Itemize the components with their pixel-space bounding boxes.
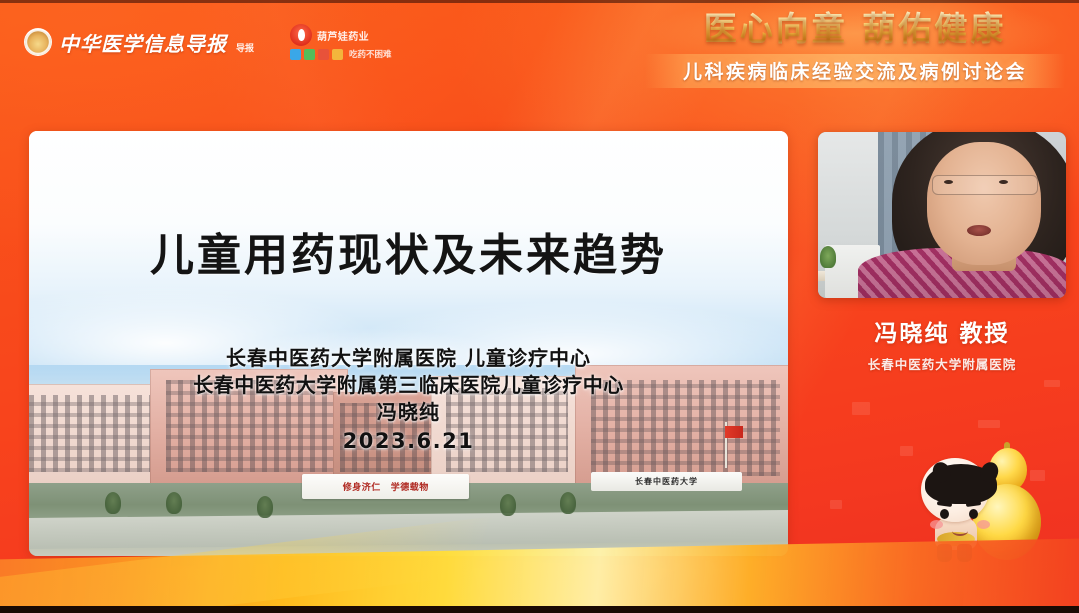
video-plant xyxy=(820,246,836,268)
event-title: 医心向童 葫佑健康 xyxy=(645,10,1065,48)
event-subtitle: 儿科疾病临床经验交流及病例讨论会 xyxy=(645,57,1065,84)
presenter-mouth xyxy=(967,225,991,236)
sponsor-logo-chips: 吃药不困难 xyxy=(290,48,392,60)
journal-logo: 中华医学信息导报 导报 xyxy=(24,28,254,57)
event-subtitle-band: 儿科疾病临床经验交流及病例讨论会 xyxy=(645,54,1065,88)
cma-seal-icon xyxy=(24,28,52,56)
speaker-caption: 冯晓纯 教授 长春中医药大学附属医院 xyxy=(818,314,1066,373)
speaker-organization: 长春中医药大学附属医院 xyxy=(818,354,1066,373)
campus-building-sign: 长春中医药大学 xyxy=(591,472,743,491)
chip-green-icon xyxy=(304,49,315,60)
slide-subtitle-block: 长春中医药大学附属医院 儿童诊疗中心 长春中医药大学附属第三临床医院儿童诊疗中心… xyxy=(29,345,788,455)
sponsor-logo: 葫芦娃药业 吃药不困难 xyxy=(290,24,392,60)
presenter-face xyxy=(927,142,1041,265)
journal-logo-suffix: 导报 xyxy=(236,41,254,57)
header-logos: 中华医学信息导报 导报 葫芦娃药业 吃药不困难 xyxy=(24,24,392,60)
slide-subtitle-line-2: 长春中医药大学附属第三临床医院儿童诊疗中心 xyxy=(29,372,788,399)
sponsor-logo-sub: 吃药不困难 xyxy=(349,48,392,60)
wall-sign-left-text: 修身济仁 xyxy=(343,480,381,493)
slide-title: 儿童用药现状及未来趋势 xyxy=(29,219,788,283)
broadcast-screen: 中华医学信息导报 导报 葫芦娃药业 吃药不困难 医心向童 葫佑健康 儿科疾病临床… xyxy=(0,0,1079,613)
mascot-eye-left xyxy=(940,509,949,519)
gourd-brand-icon xyxy=(290,24,312,46)
mascot-head xyxy=(921,458,989,522)
presenter-video-panel[interactable] xyxy=(818,132,1066,298)
mascot-hair xyxy=(925,464,997,504)
presentation-slide[interactable]: 儿童用药现状及未来趋势 修身济仁 学德载物 长春中医药大学 xyxy=(29,131,788,556)
slide-presenter-name: 冯晓纯 xyxy=(29,399,788,426)
glasses-icon xyxy=(932,175,1038,195)
slide-date: 2023.6.21 xyxy=(29,427,788,455)
sponsor-logo-name: 葫芦娃药业 xyxy=(317,28,369,43)
chip-yellow-icon xyxy=(332,49,343,60)
campus-wall-sign: 修身济仁 学德载物 xyxy=(302,474,469,499)
mascot-cheek-left xyxy=(930,520,943,529)
journal-logo-name: 中华医学信息导报 xyxy=(59,28,227,57)
mascot-mouth xyxy=(952,526,968,536)
bottom-edge-bar xyxy=(0,606,1079,613)
speaker-name: 冯晓纯 教授 xyxy=(818,314,1066,348)
mascot-bun-left xyxy=(930,460,953,485)
wall-sign-right-text: 学德载物 xyxy=(391,480,429,493)
event-banner: 医心向童 葫佑健康 儿科疾病临床经验交流及病例讨论会 xyxy=(645,10,1065,88)
mascot-eye-right xyxy=(969,509,978,519)
chip-blue-icon xyxy=(290,49,301,60)
building-sign-text: 长春中医药大学 xyxy=(635,476,698,487)
mascot-cheek-right xyxy=(977,520,990,529)
top-edge-bar xyxy=(0,0,1079,3)
slide-subtitle-line-1: 长春中医药大学附属医院 儿童诊疗中心 xyxy=(29,345,788,372)
chip-red-icon xyxy=(318,49,329,60)
